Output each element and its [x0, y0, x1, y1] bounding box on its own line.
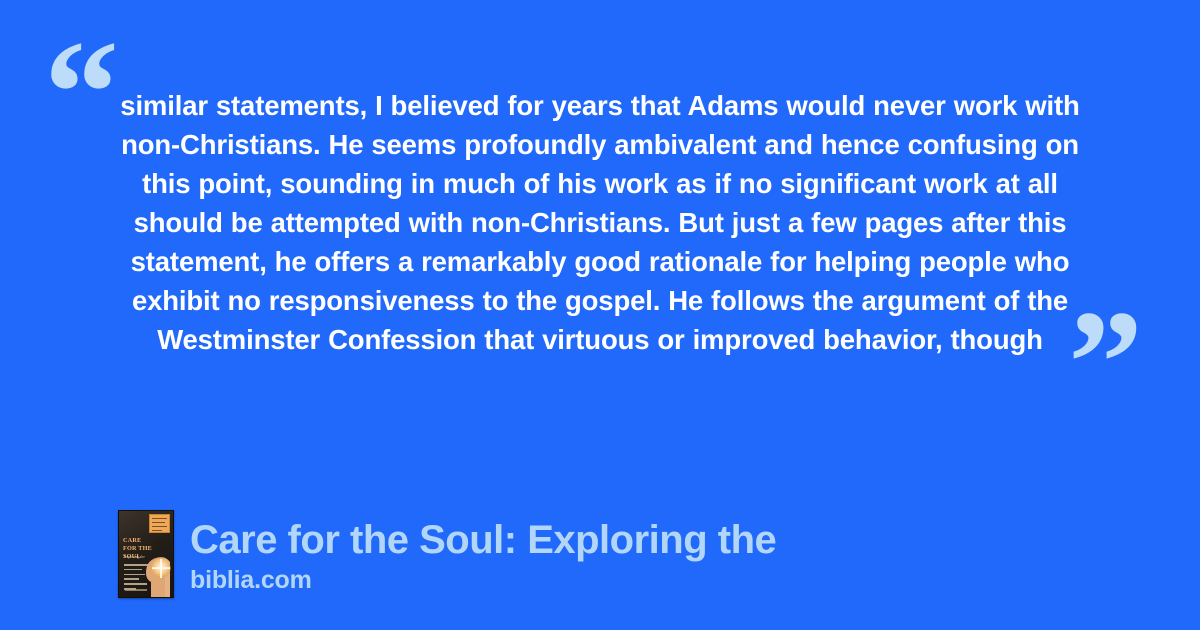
source-title[interactable]: Care for the Soul: Exploring the	[190, 516, 776, 564]
quote-card: “ similar statements, I believed for yea…	[0, 0, 1200, 630]
book-cover-thumbnail: CAREFOR THE SOUL Exploring the	[118, 510, 174, 598]
source-site[interactable]: biblia.com	[190, 564, 776, 596]
closing-quote-mark: ”	[1068, 288, 1141, 438]
source-text-block: Care for the Soul: Exploring the biblia.…	[190, 516, 776, 598]
book-cover-editor-line	[125, 589, 147, 591]
quote-region: “ similar statements, I believed for yea…	[0, 0, 1200, 430]
source-attribution[interactable]: CAREFOR THE SOUL Exploring the	[118, 510, 776, 598]
opening-quote-mark: “	[44, 18, 117, 168]
quote-text: similar statements, I believed for years…	[110, 86, 1090, 359]
book-cover-badge	[149, 514, 170, 533]
